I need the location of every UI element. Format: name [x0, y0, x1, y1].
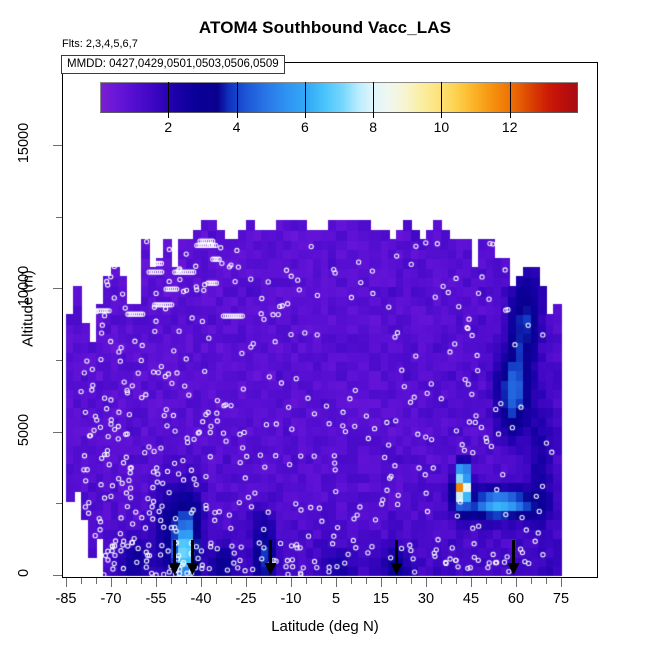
colorbar-tick-8	[373, 82, 374, 113]
colorbar-tickmark-2	[168, 113, 169, 118]
colorbar-tickmark-4	[237, 113, 238, 118]
x-axis-title: Latitude (deg N)	[0, 618, 650, 635]
profile-arrow	[264, 540, 277, 576]
y-axis-title: Altitude (m)	[20, 229, 37, 389]
x-tick	[171, 578, 172, 584]
x-axis-label-45: 45	[463, 591, 479, 607]
x-axis-label--25: -25	[236, 591, 257, 607]
dates-annotation: MMDD: 0427,0429,0501,0503,0506,0509	[61, 55, 285, 74]
y-axis-label-5000: 5000	[16, 406, 32, 454]
y-tick-5000	[53, 432, 62, 433]
x-tick	[486, 578, 487, 584]
colorbar-tickmark-10	[441, 113, 442, 118]
x-tick	[216, 578, 217, 584]
x-tick	[411, 578, 412, 584]
x-tick	[531, 578, 532, 584]
x-tick	[441, 578, 442, 584]
heatmap-canvas	[63, 63, 597, 577]
colorbar-tick-4	[237, 82, 238, 113]
x-axis-label--10: -10	[281, 591, 302, 607]
y-tick-minor	[56, 503, 62, 504]
x-tick	[141, 578, 142, 584]
x-tick	[321, 578, 322, 584]
colorbar-tickmark-6	[305, 113, 306, 118]
page-title: ATOM4 Southbound Vacc_LAS	[0, 18, 650, 38]
y-tick-0	[53, 575, 62, 576]
x-tick	[336, 578, 337, 587]
colorbar-tick-10	[441, 82, 442, 113]
plot-area	[62, 62, 598, 578]
colorbar-label-6: 6	[301, 119, 309, 135]
colorbar-tick-2	[168, 82, 169, 113]
x-tick	[306, 578, 307, 584]
x-axis-label--40: -40	[191, 591, 212, 607]
x-tick	[291, 578, 292, 587]
x-tick	[246, 578, 247, 587]
x-tick	[396, 578, 397, 584]
x-tick	[261, 578, 262, 584]
x-axis-label-30: 30	[418, 591, 434, 607]
y-axis-label-15000: 15000	[16, 119, 32, 167]
y-axis-label-0: 0	[16, 549, 32, 597]
colorbar: 24681012	[100, 82, 578, 113]
colorbar-label-2: 2	[164, 119, 172, 135]
colorbar-tickmark-8	[373, 113, 374, 118]
colorbar-gradient	[100, 82, 578, 113]
x-tick	[231, 578, 232, 584]
x-axis-label--55: -55	[146, 591, 167, 607]
x-axis-label-75: 75	[553, 591, 569, 607]
x-tick	[426, 578, 427, 587]
x-tick	[96, 578, 97, 584]
x-tick	[516, 578, 517, 587]
x-tick	[126, 578, 127, 584]
y-tick-15000	[53, 145, 62, 146]
x-axis-label--70: -70	[101, 591, 122, 607]
profile-arrow	[507, 540, 520, 576]
x-tick	[501, 578, 502, 584]
x-tick	[546, 578, 547, 584]
x-axis-label-15: 15	[373, 591, 389, 607]
x-tick	[186, 578, 187, 584]
profile-arrow	[390, 540, 403, 576]
y-tick-minor	[56, 217, 62, 218]
x-tick	[81, 578, 82, 584]
y-tick-minor	[56, 360, 62, 361]
x-tick	[201, 578, 202, 587]
colorbar-label-12: 12	[502, 119, 518, 135]
x-axis-label--85: -85	[56, 591, 77, 607]
colorbar-label-10: 10	[434, 119, 450, 135]
x-tick	[456, 578, 457, 584]
colorbar-label-8: 8	[369, 119, 377, 135]
x-tick	[561, 578, 562, 587]
flights-annotation: Flts: 2,3,4,5,6,7	[62, 38, 138, 50]
x-tick	[351, 578, 352, 584]
figure-root: ATOM4 Southbound Vacc_LAS Flts: 2,3,4,5,…	[0, 0, 650, 650]
colorbar-label-4: 4	[233, 119, 241, 135]
x-axis-label-60: 60	[508, 591, 524, 607]
x-tick	[276, 578, 277, 584]
x-tick	[366, 578, 367, 584]
colorbar-tickmark-12	[510, 113, 511, 118]
x-tick	[66, 578, 67, 587]
colorbar-tick-6	[305, 82, 306, 113]
x-tick	[381, 578, 382, 587]
profile-arrow	[168, 540, 181, 576]
x-axis-label-5: 5	[332, 591, 340, 607]
colorbar-tick-12	[510, 82, 511, 113]
y-tick-10000	[53, 288, 62, 289]
x-tick	[471, 578, 472, 587]
x-tick	[156, 578, 157, 587]
x-tick	[111, 578, 112, 587]
profile-arrow	[186, 540, 199, 576]
